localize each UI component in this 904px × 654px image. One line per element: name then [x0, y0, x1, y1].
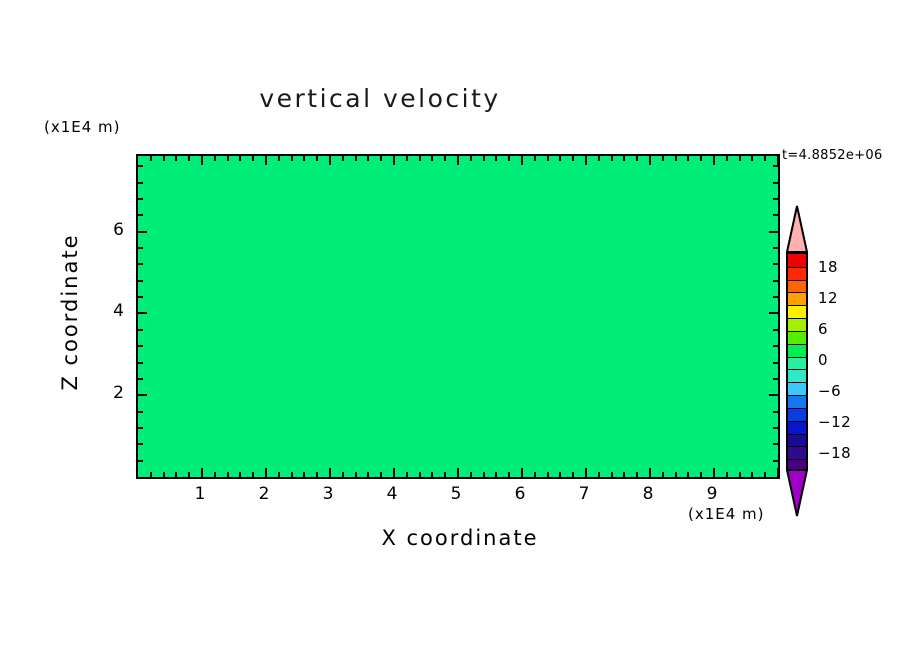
x-tick-top	[150, 156, 152, 161]
colorbar-band-separator	[788, 305, 806, 306]
x-tick-top	[431, 156, 433, 161]
y-tick	[138, 427, 143, 429]
x-tick	[636, 472, 638, 477]
vertical-velocity-field	[138, 156, 778, 477]
x-tick-label: 7	[569, 484, 599, 504]
colorbar-band-separator	[788, 318, 806, 319]
x-tick	[265, 468, 267, 477]
colorbar-under-arrow-icon	[786, 469, 808, 517]
x-tick-label: 8	[633, 484, 663, 504]
x-tick-label: 5	[441, 484, 471, 504]
colorbar-band-separator	[788, 434, 806, 435]
x-tick	[150, 472, 152, 477]
y-tick-right	[773, 378, 778, 380]
x-tick	[239, 472, 241, 477]
x-tick	[649, 468, 651, 477]
x-tick-top	[495, 156, 497, 161]
x-tick-top	[252, 156, 254, 161]
colorbar-band	[788, 421, 806, 434]
x-tick	[777, 468, 779, 477]
x-tick	[444, 472, 446, 477]
x-tick-label: 9	[697, 484, 727, 504]
y-tick-right	[773, 411, 778, 413]
x-tick	[521, 468, 523, 477]
x-tick-top	[419, 156, 421, 161]
x-tick-top	[380, 156, 382, 161]
colorbar-tick-label: 12	[818, 289, 838, 307]
y-tick	[138, 165, 143, 167]
x-tick-top	[316, 156, 318, 161]
x-tick	[572, 472, 574, 477]
x-tick-top	[367, 156, 369, 161]
x-tick-top	[265, 156, 267, 165]
timestamp-label: t=4.8852e+06	[782, 148, 883, 163]
colorbar-tick-label: −18	[818, 444, 851, 462]
colorbar-band-separator	[788, 395, 806, 396]
colorbar: 181260−6−12−18	[782, 205, 902, 515]
x-tick-top	[611, 156, 613, 161]
x-tick	[508, 472, 510, 477]
colorbar-bands	[786, 252, 808, 470]
y-axis-title: Z coordinate	[58, 212, 82, 412]
colorbar-band-separator	[788, 292, 806, 293]
x-tick	[163, 472, 165, 477]
y-tick-right	[773, 280, 778, 282]
x-tick	[585, 468, 587, 477]
x-tick-top	[201, 156, 203, 165]
x-tick	[495, 472, 497, 477]
colorbar-band-separator	[788, 369, 806, 370]
x-tick-top	[188, 156, 190, 161]
colorbar-band	[788, 408, 806, 421]
x-tick-top	[342, 156, 344, 161]
y-tick-right	[773, 165, 778, 167]
colorbar-tick-label: 0	[818, 351, 828, 369]
colorbar-band-separator	[788, 267, 806, 268]
y-tick-right	[773, 247, 778, 249]
colorbar-band	[788, 382, 806, 395]
x-tick	[662, 472, 664, 477]
x-tick-top	[508, 156, 510, 161]
colorbar-tick-label: 6	[818, 320, 828, 338]
x-tick-top	[687, 156, 689, 161]
y-tick	[138, 460, 143, 462]
x-tick-top	[227, 156, 229, 161]
y-tick-right	[773, 214, 778, 216]
x-tick	[214, 472, 216, 477]
y-tick-right	[773, 296, 778, 298]
y-tick	[138, 280, 143, 282]
x-tick-top	[700, 156, 702, 161]
x-tick-top	[175, 156, 177, 161]
y-tick	[138, 443, 143, 445]
x-tick	[559, 472, 561, 477]
x-tick	[342, 472, 344, 477]
y-tick-right	[773, 263, 778, 265]
x-tick	[393, 468, 395, 477]
y-tick-label: 4	[94, 301, 124, 321]
y-tick-right	[773, 182, 778, 184]
colorbar-band-separator	[788, 280, 806, 281]
x-tick-top	[214, 156, 216, 161]
colorbar-band-separator	[788, 357, 806, 358]
colorbar-band-separator	[788, 408, 806, 409]
x-tick	[598, 472, 600, 477]
x-tick	[739, 472, 741, 477]
x-tick	[201, 468, 203, 477]
x-tick-label: 1	[185, 484, 215, 504]
x-tick-top	[572, 156, 574, 161]
y-tick	[138, 312, 147, 314]
x-tick-top	[675, 156, 677, 161]
x-tick	[175, 472, 177, 477]
x-tick	[713, 468, 715, 477]
x-tick-top	[239, 156, 241, 161]
x-tick-top	[444, 156, 446, 161]
x-tick	[431, 472, 433, 477]
y-tick	[138, 329, 143, 331]
y-tick	[138, 378, 143, 380]
x-tick	[483, 472, 485, 477]
colorbar-band-separator	[788, 344, 806, 345]
x-axis-title: X coordinate	[230, 526, 690, 550]
x-tick	[547, 472, 549, 477]
colorbar-band	[788, 305, 806, 318]
x-tick-top	[598, 156, 600, 161]
y-tick-right	[773, 362, 778, 364]
x-tick-top	[470, 156, 472, 161]
colorbar-band	[788, 395, 806, 408]
colorbar-band-separator	[788, 382, 806, 383]
x-axis-unit-label: (x1E4 m)	[688, 505, 765, 523]
y-tick	[138, 198, 143, 200]
y-tick	[138, 411, 143, 413]
x-tick-top	[662, 156, 664, 161]
x-tick	[675, 472, 677, 477]
y-tick	[138, 231, 147, 233]
y-tick	[138, 394, 147, 396]
colorbar-band	[788, 318, 806, 331]
x-tick-label: 6	[505, 484, 535, 504]
x-tick	[751, 472, 753, 477]
x-tick-top	[457, 156, 459, 165]
x-tick	[355, 472, 357, 477]
x-tick-label: 2	[249, 484, 279, 504]
colorbar-tick-label: 18	[818, 258, 838, 276]
colorbar-band	[788, 434, 806, 447]
y-tick-right	[769, 231, 778, 233]
x-tick-top	[278, 156, 280, 161]
x-tick	[406, 472, 408, 477]
y-tick-right	[773, 460, 778, 462]
colorbar-band-separator	[788, 446, 806, 447]
colorbar-band	[788, 280, 806, 293]
y-tick	[138, 247, 143, 249]
colorbar-band	[788, 369, 806, 382]
x-tick	[534, 472, 536, 477]
colorbar-band	[788, 267, 806, 280]
y-tick-label: 2	[94, 383, 124, 403]
x-tick	[188, 472, 190, 477]
y-tick	[138, 296, 143, 298]
y-tick-right	[773, 198, 778, 200]
y-tick-label: 6	[94, 220, 124, 240]
colorbar-band-separator	[788, 331, 806, 332]
colorbar-band-separator	[788, 421, 806, 422]
y-tick	[138, 182, 143, 184]
x-tick-top	[521, 156, 523, 165]
y-tick-right	[773, 427, 778, 429]
x-tick	[611, 472, 613, 477]
y-tick-right	[773, 345, 778, 347]
x-tick-top	[483, 156, 485, 161]
x-tick-top	[291, 156, 293, 161]
x-tick	[470, 472, 472, 477]
y-tick-right	[769, 312, 778, 314]
x-tick-top	[559, 156, 561, 161]
x-tick-top	[777, 156, 779, 165]
x-tick	[419, 472, 421, 477]
x-tick-top	[406, 156, 408, 161]
colorbar-band	[788, 446, 806, 459]
colorbar-band	[788, 254, 806, 267]
x-tick	[687, 472, 689, 477]
x-tick	[726, 472, 728, 477]
colorbar-band	[788, 357, 806, 370]
colorbar-over-arrow-icon	[786, 205, 808, 253]
x-tick-top	[713, 156, 715, 165]
x-tick-top	[649, 156, 651, 165]
x-tick-top	[534, 156, 536, 161]
x-tick	[457, 468, 459, 477]
x-tick-label: 4	[377, 484, 407, 504]
x-tick-top	[163, 156, 165, 161]
x-tick-label: 3	[313, 484, 343, 504]
colorbar-band	[788, 331, 806, 344]
x-tick-top	[329, 156, 331, 165]
x-tick-top	[726, 156, 728, 161]
x-tick	[367, 472, 369, 477]
x-tick-top	[764, 156, 766, 161]
x-tick	[700, 472, 702, 477]
x-tick	[329, 468, 331, 477]
x-tick	[316, 472, 318, 477]
chart-title: vertical velocity	[0, 84, 760, 113]
x-tick	[252, 472, 254, 477]
colorbar-tick-label: −6	[818, 382, 841, 400]
x-tick-top	[585, 156, 587, 165]
colorbar-band	[788, 292, 806, 305]
x-tick	[291, 472, 293, 477]
x-tick-top	[623, 156, 625, 161]
y-tick-right	[773, 329, 778, 331]
x-tick-top	[355, 156, 357, 161]
x-tick-top	[303, 156, 305, 161]
y-tick	[138, 362, 143, 364]
colorbar-band	[788, 344, 806, 357]
y-tick-right	[769, 394, 778, 396]
colorbar-tick-label: −12	[818, 413, 851, 431]
x-tick-top	[739, 156, 741, 161]
contour-plot-area	[136, 154, 780, 479]
x-tick	[278, 472, 280, 477]
x-tick	[227, 472, 229, 477]
x-tick-top	[393, 156, 395, 165]
y-tick	[138, 345, 143, 347]
x-tick	[764, 472, 766, 477]
x-tick	[303, 472, 305, 477]
x-tick-top	[547, 156, 549, 161]
y-tick-right	[773, 443, 778, 445]
y-tick	[138, 263, 143, 265]
x-tick-top	[636, 156, 638, 161]
y-axis-unit-label: (x1E4 m)	[44, 118, 121, 136]
x-tick	[380, 472, 382, 477]
x-tick-top	[751, 156, 753, 161]
y-tick	[138, 214, 143, 216]
x-tick	[623, 472, 625, 477]
colorbar-band-separator	[788, 459, 806, 460]
